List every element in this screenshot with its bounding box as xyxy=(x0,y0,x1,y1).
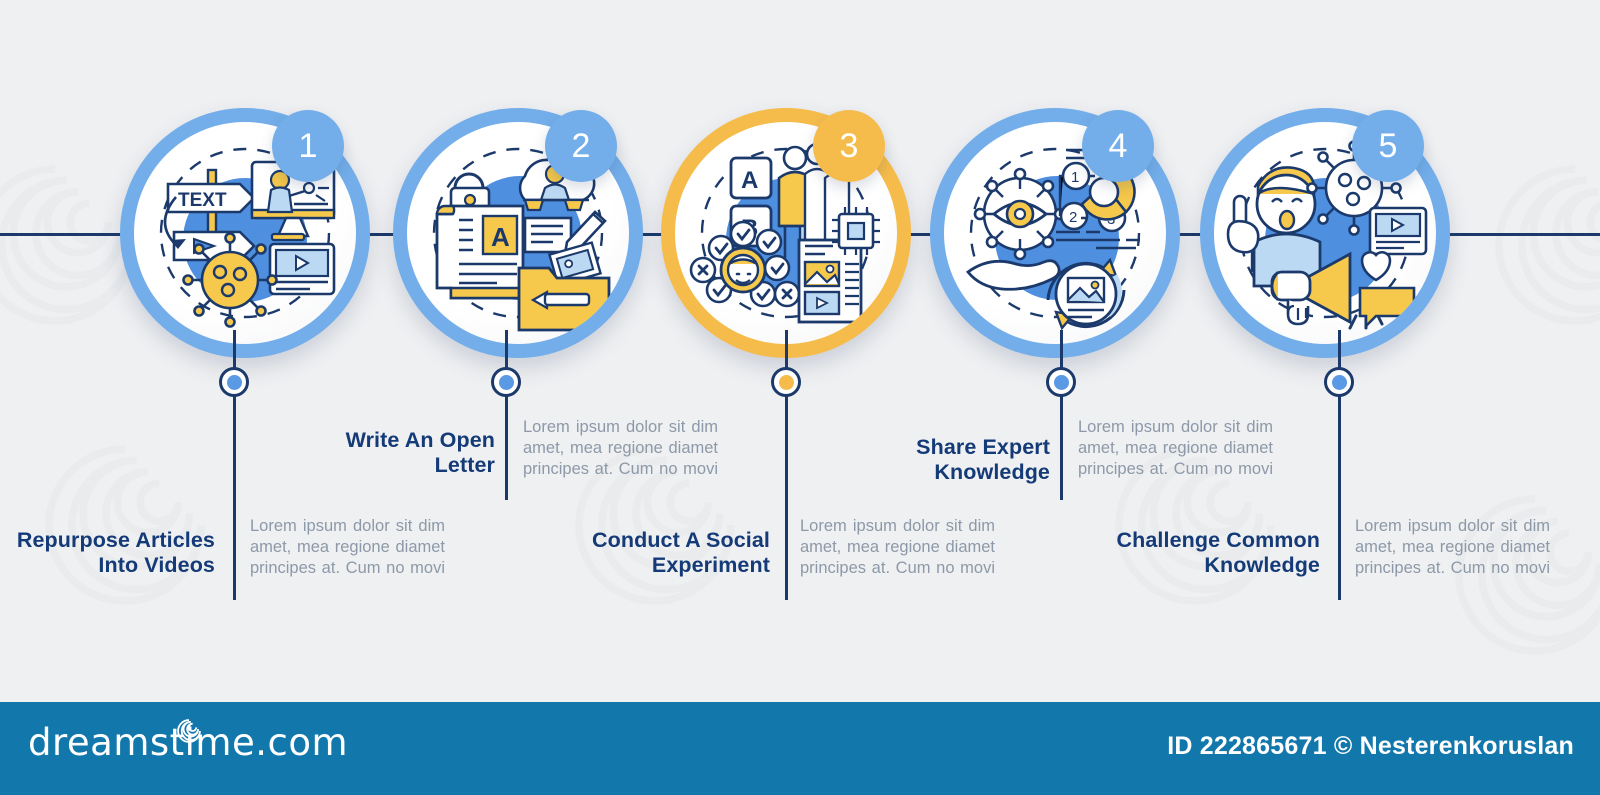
image-credit: ID 222865671 © Nesterenkoruslan xyxy=(1167,732,1574,761)
infographic-canvas: TEXT xyxy=(0,0,1600,795)
step-description-4: Lorem ipsum dolor sit dim amet, mea regi… xyxy=(1078,417,1273,501)
spiral-logo-icon xyxy=(176,718,202,749)
svg-text:1: 1 xyxy=(1071,169,1079,186)
step-text-5: Challenge Common Knowledge xyxy=(1110,528,1320,578)
step-title-3: Conduct A Social Experiment xyxy=(565,528,770,578)
step-number-badge-5: 5 xyxy=(1352,110,1424,182)
step-text-3: Conduct A Social Experiment xyxy=(565,528,770,578)
step-description-3: Lorem ipsum dolor sit dim amet, mea regi… xyxy=(800,516,995,600)
step-number-badge-3: 3 xyxy=(813,110,885,182)
step-desc-block-4: Lorem ipsum dolor sit dim amet, mea regi… xyxy=(1078,417,1273,501)
step-desc-block-1: Lorem ipsum dolor sit dim amet, mea regi… xyxy=(250,516,445,600)
step-desc-block-3: Lorem ipsum dolor sit dim amet, mea regi… xyxy=(800,516,995,600)
step-number-badge-2: 2 xyxy=(545,110,617,182)
step-stem-4 xyxy=(1060,330,1063,500)
svg-text:A: A xyxy=(491,222,510,252)
step-description-2: Lorem ipsum dolor sit dim amet, mea regi… xyxy=(523,417,718,501)
watermark-spiral xyxy=(1480,150,1600,340)
step-title-5: Challenge Common Knowledge xyxy=(1110,528,1320,578)
svg-text:TEXT: TEXT xyxy=(178,190,227,211)
step-node-1[interactable]: TEXT xyxy=(120,108,370,358)
step-title-2: Write An Open Letter xyxy=(290,428,495,478)
step-text-1: Repurpose Articles Into Videos xyxy=(10,528,215,578)
step-desc-block-5: Lorem ipsum dolor sit dim amet, mea regi… xyxy=(1355,516,1550,600)
step-dot-2[interactable] xyxy=(491,367,521,397)
step-node-5[interactable]: 5 xyxy=(1200,108,1450,358)
step-desc-block-2: Lorem ipsum dolor sit dim amet, mea regi… xyxy=(523,417,718,501)
step-dot-1[interactable] xyxy=(219,367,249,397)
step-number-badge-1: 1 xyxy=(272,110,344,182)
step-node-4[interactable]: 1 2 3 xyxy=(930,108,1180,358)
step-number-badge-4: 4 xyxy=(1082,110,1154,182)
svg-text:2: 2 xyxy=(1069,209,1077,226)
step-stem-2 xyxy=(505,330,508,500)
step-title-1: Repurpose Articles Into Videos xyxy=(10,528,215,578)
step-text-2: Write An Open Letter xyxy=(290,428,495,478)
watermark-spiral xyxy=(30,430,220,620)
step-text-4: Share Expert Knowledge xyxy=(845,435,1050,485)
step-description-5: Lorem ipsum dolor sit dim amet, mea regi… xyxy=(1355,516,1550,600)
step-dot-5[interactable] xyxy=(1324,367,1354,397)
svg-text:A: A xyxy=(741,167,758,194)
step-dot-4[interactable] xyxy=(1046,367,1076,397)
step-title-4: Share Expert Knowledge xyxy=(845,435,1050,485)
step-node-2[interactable]: A xyxy=(393,108,643,358)
brand-logo[interactable]: dreamstime.com xyxy=(28,724,348,761)
footer-bar: dreamstime.com ID 222865671 © Nesterenko… xyxy=(0,702,1600,795)
step-dot-3[interactable] xyxy=(771,367,801,397)
step-node-3[interactable]: A B xyxy=(661,108,911,358)
step-description-1: Lorem ipsum dolor sit dim amet, mea regi… xyxy=(250,516,445,600)
